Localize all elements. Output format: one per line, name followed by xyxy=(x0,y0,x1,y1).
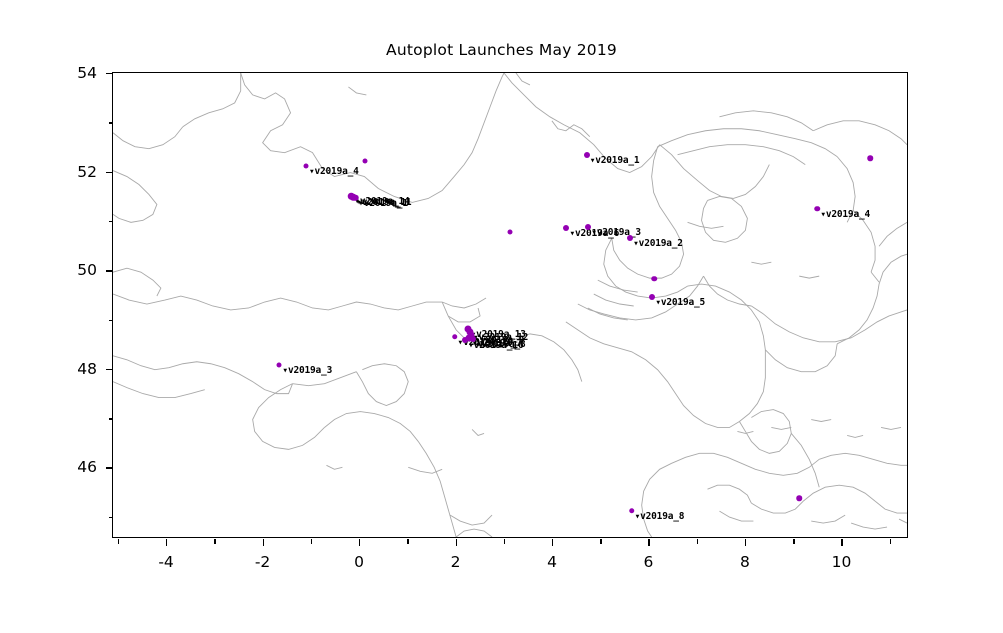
page-title: Autoplot Launches May 2019 xyxy=(0,41,1003,59)
data-point-label: ▾v2019a_5 xyxy=(655,298,705,308)
y-axis-tick-label: 52 xyxy=(77,163,97,181)
data-point-label: ▾v2019a_1 xyxy=(590,156,640,166)
x-axis-tick xyxy=(456,539,457,546)
data-point-marker xyxy=(815,206,821,212)
x-axis-minor-tick xyxy=(600,539,601,544)
x-axis-minor-tick xyxy=(697,539,698,544)
y-axis-tick xyxy=(106,172,113,173)
y-axis-tick xyxy=(106,467,113,468)
data-point-marker xyxy=(303,163,308,168)
data-point-marker xyxy=(796,495,802,501)
data-point-marker xyxy=(452,334,458,340)
x-axis-tick-label: 6 xyxy=(644,553,654,571)
data-point-marker xyxy=(508,229,513,234)
x-axis-tick-label: 0 xyxy=(354,553,364,571)
x-axis-minor-tick xyxy=(118,539,119,544)
x-axis-tick-label: -2 xyxy=(255,553,270,571)
y-axis-minor-tick xyxy=(109,517,114,518)
data-point-label: ▾v2019a_16 xyxy=(468,341,523,351)
x-axis-minor-tick xyxy=(504,539,505,544)
data-point-marker xyxy=(652,276,658,282)
y-axis-tick-label: 46 xyxy=(77,458,97,476)
data-point-label: ▾v2019a_4 xyxy=(309,167,359,177)
y-axis-minor-tick xyxy=(109,122,114,123)
y-axis-tick xyxy=(106,73,113,74)
x-axis-tick xyxy=(166,539,167,546)
x-axis-tick-label: -4 xyxy=(158,553,173,571)
x-axis-minor-tick xyxy=(407,539,408,544)
x-axis-tick-label: 4 xyxy=(547,553,557,571)
x-axis-tick xyxy=(648,539,649,546)
x-axis-tick-label: 2 xyxy=(451,553,461,571)
y-axis-minor-tick xyxy=(109,320,114,321)
data-point-marker xyxy=(277,363,282,368)
data-point-label: ▾v2019a_3 xyxy=(282,366,332,376)
x-axis-tick xyxy=(359,539,360,546)
data-point-marker xyxy=(868,156,874,162)
y-axis-tick-label: 54 xyxy=(77,64,97,82)
plot-axes: -4-202468104648505254▾v2019a_4▾v2019a_14… xyxy=(112,72,908,538)
x-axis-tick-label: 10 xyxy=(832,553,852,571)
data-point-label: ▾v2019a_1 xyxy=(358,199,408,209)
x-axis-tick xyxy=(263,539,264,546)
x-axis-minor-tick xyxy=(311,539,312,544)
x-axis-tick-label: 8 xyxy=(740,553,750,571)
y-axis-tick-label: 50 xyxy=(77,261,97,279)
data-point-marker xyxy=(629,508,635,514)
coastline-map xyxy=(113,73,907,537)
y-axis-minor-tick xyxy=(109,221,114,222)
y-axis-tick xyxy=(106,369,113,370)
data-point-label: ▾v2019a_3 xyxy=(591,228,641,238)
x-axis-minor-tick xyxy=(793,539,794,544)
y-axis-tick xyxy=(106,270,113,271)
x-axis-minor-tick xyxy=(214,539,215,544)
data-point-label: ▾v2019a_4 xyxy=(820,210,870,220)
data-point-marker xyxy=(362,158,367,163)
x-axis-tick xyxy=(841,539,842,546)
data-point-label: ▾v2019a_8 xyxy=(635,512,685,522)
x-axis-tick xyxy=(745,539,746,546)
x-axis-tick xyxy=(552,539,553,546)
y-axis-minor-tick xyxy=(109,418,114,419)
data-point-label: ▾v2019a_2 xyxy=(633,239,683,249)
x-axis-minor-tick xyxy=(890,539,891,544)
y-axis-tick-label: 48 xyxy=(77,360,97,378)
